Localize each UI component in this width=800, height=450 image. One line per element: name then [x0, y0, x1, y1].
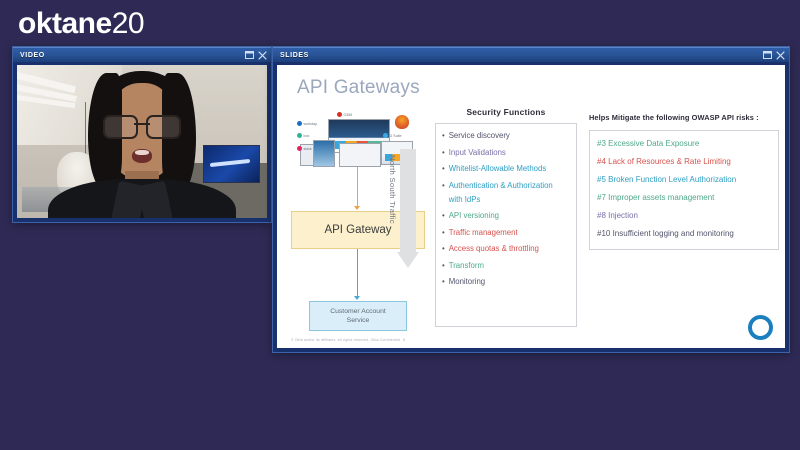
- close-icon[interactable]: [258, 51, 267, 60]
- video-window-titlebar[interactable]: VIDEO: [13, 47, 271, 62]
- security-functions-panel: Security Functions • Service discovery •…: [435, 107, 577, 327]
- bullet-icon: •: [442, 261, 445, 270]
- slides-window[interactable]: SLIDES API Gateways workday.: [272, 46, 790, 353]
- laptop-icon: [339, 143, 381, 167]
- list-item: #4 Lack of Resources & Rate Limiting: [597, 157, 771, 167]
- app-logo-label: box: [304, 134, 310, 138]
- list-item: #3 Excessive Data Exposure: [597, 139, 771, 149]
- list-item-label: Whitelist-Allowable Methods: [449, 164, 547, 173]
- list-item-label: Service discovery: [449, 131, 510, 140]
- list-item: #10 Insufficient logging and monitoring: [597, 229, 771, 239]
- app-logo-o365: O365: [337, 112, 352, 117]
- app-logo-label: O365: [344, 113, 353, 117]
- app-logo-label: workday.: [304, 122, 318, 126]
- bullet-icon: •: [442, 211, 445, 220]
- north-south-traffic-label: North South Traffic: [388, 155, 397, 259]
- list-item: • Access quotas & throttling: [442, 244, 570, 253]
- bullet-icon: •: [442, 131, 445, 140]
- app-logo-label: slack: [304, 147, 312, 151]
- service-label-line1: Customer Account: [330, 307, 386, 316]
- arrow-head: [397, 252, 419, 268]
- list-item: • Authentication & Authorization with Id…: [442, 181, 570, 204]
- video-window[interactable]: VIDEO: [12, 46, 272, 223]
- app-logo-slack: slack: [297, 146, 312, 151]
- list-item-label: Authentication & Authorization: [449, 181, 553, 190]
- app-logo-gsuite: G Suite: [383, 133, 402, 138]
- aws-logo-icon: [395, 115, 409, 129]
- video-window-title: VIDEO: [20, 52, 245, 59]
- connector-line-top: [357, 167, 358, 209]
- service-label-line2: Service: [347, 316, 370, 325]
- tablet-icon: [313, 140, 335, 167]
- list-item-label: Transform: [449, 261, 484, 270]
- glasses-lens-right: [146, 115, 181, 139]
- north-south-traffic-arrow: North South Traffic: [397, 149, 419, 275]
- arrow-head-top: [354, 206, 360, 210]
- list-item-label: Access quotas & throttling: [449, 244, 539, 253]
- list-item: • Traffic management: [442, 228, 570, 237]
- bullet-icon: •: [442, 244, 445, 253]
- maximize-icon[interactable]: [245, 51, 254, 59]
- bullet-icon: •: [442, 277, 445, 286]
- presenter: [62, 71, 222, 218]
- arrow-head-bottom: [354, 296, 360, 300]
- slide-footer-copyright: © Okta and/or its affiliates. All rights…: [291, 338, 400, 342]
- owasp-risks-list: #3 Excessive Data Exposure #4 Lack of Re…: [589, 130, 779, 250]
- list-item-sublabel: with IdPs: [449, 195, 570, 204]
- bullet-icon: •: [442, 164, 445, 173]
- bullet-icon: •: [442, 148, 445, 157]
- list-item-label: Traffic management: [449, 228, 518, 237]
- list-item: • Whitelist-Allowable Methods: [442, 164, 570, 173]
- list-item-label: Input Validations: [449, 148, 506, 157]
- close-icon[interactable]: [776, 51, 785, 60]
- brand-part-primary: oktane: [18, 8, 112, 40]
- mouth: [132, 149, 152, 163]
- list-item: #5 Broken Function Level Authorization: [597, 175, 771, 185]
- list-item: • API versioning: [442, 211, 570, 220]
- brand-part-secondary: 20: [112, 8, 144, 40]
- app-logo-label: G Suite: [390, 134, 402, 138]
- api-gateway-label: API Gateway: [324, 224, 391, 236]
- connector-line-bottom: [357, 249, 358, 299]
- glasses-lens-left: [103, 115, 138, 139]
- owasp-risks-panel: Helps Mitigate the following OWASP API r…: [589, 113, 779, 250]
- security-functions-heading: Security Functions: [435, 107, 577, 117]
- bullet-icon: •: [442, 228, 445, 237]
- list-item: #8 Injection: [597, 211, 771, 221]
- list-item: #7 Improper assets management: [597, 193, 771, 203]
- bullet-icon: •: [442, 181, 445, 190]
- list-item: • Transform: [442, 261, 570, 270]
- slide-page-number: 8: [403, 338, 405, 342]
- slides-window-titlebar[interactable]: SLIDES: [273, 47, 789, 62]
- glasses: [103, 115, 181, 135]
- api-gateway-diagram: workday. box slack O365 G Suite API Gate…: [291, 113, 423, 323]
- glasses-bridge: [134, 123, 150, 125]
- app-logo-box: box: [297, 133, 309, 138]
- list-item: • Service discovery: [442, 131, 570, 140]
- owasp-heading: Helps Mitigate the following OWASP API r…: [589, 113, 779, 122]
- security-functions-list: • Service discovery • Input Validations …: [435, 123, 577, 327]
- slide-canvas: API Gateways workday. box slack: [277, 65, 785, 348]
- slide-title: API Gateways: [297, 77, 420, 99]
- maximize-icon[interactable]: [763, 51, 772, 59]
- arrow-shaft: [400, 149, 416, 253]
- oktane20-logo: oktane 20: [18, 8, 144, 40]
- okta-circle-logo-icon: [748, 315, 773, 340]
- app-logo-workday: workday.: [297, 121, 318, 126]
- list-item-label: Monitoring: [449, 277, 485, 286]
- list-item-label: API versioning: [449, 211, 499, 220]
- list-item: • Input Validations: [442, 148, 570, 157]
- customer-account-service-box: Customer Account Service: [309, 301, 407, 331]
- list-item: • Monitoring: [442, 277, 570, 286]
- video-feed: [17, 65, 267, 218]
- slides-window-title: SLIDES: [280, 52, 763, 59]
